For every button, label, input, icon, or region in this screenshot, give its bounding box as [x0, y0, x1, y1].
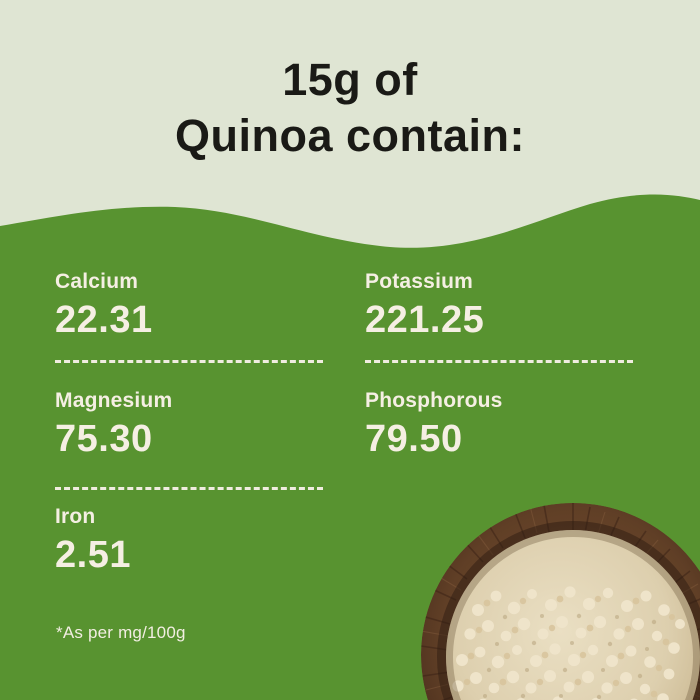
title-line-2: Quinoa contain:	[0, 108, 700, 164]
nutrient-value: 79.50	[365, 417, 503, 461]
quinoa-nutrition-infographic: 15g of Quinoa contain: Calcium 22.31 Pot…	[0, 0, 700, 700]
nutrient-value: 22.31	[55, 298, 153, 342]
nutrient-value: 2.51	[55, 533, 131, 577]
nutrient-item-phosphorous: Phosphorous 79.50	[365, 389, 503, 461]
nutrient-item-magnesium: Magnesium 75.30	[55, 389, 172, 461]
nutrient-label: Potassium	[365, 270, 484, 294]
divider-row2-left	[55, 487, 323, 490]
nutrient-label: Calcium	[55, 270, 153, 294]
nutrient-value: 221.25	[365, 298, 484, 342]
nutrient-value: 75.30	[55, 417, 172, 461]
page-title: 15g of Quinoa contain:	[0, 52, 700, 164]
divider-row1-left	[55, 360, 323, 363]
divider-row1-right	[365, 360, 633, 363]
nutrient-item-iron: Iron 2.51	[55, 505, 131, 577]
nutrient-label: Phosphorous	[365, 389, 503, 413]
nutrient-label: Iron	[55, 505, 131, 529]
quinoa-bowl-image	[418, 500, 700, 700]
footnote-text: *As per mg/100g	[56, 623, 186, 643]
nutrient-item-potassium: Potassium 221.25	[365, 270, 484, 342]
title-line-1: 15g of	[0, 52, 700, 108]
header-band: 15g of Quinoa contain:	[0, 0, 700, 210]
nutrient-label: Magnesium	[55, 389, 172, 413]
nutrient-item-calcium: Calcium 22.31	[55, 270, 153, 342]
